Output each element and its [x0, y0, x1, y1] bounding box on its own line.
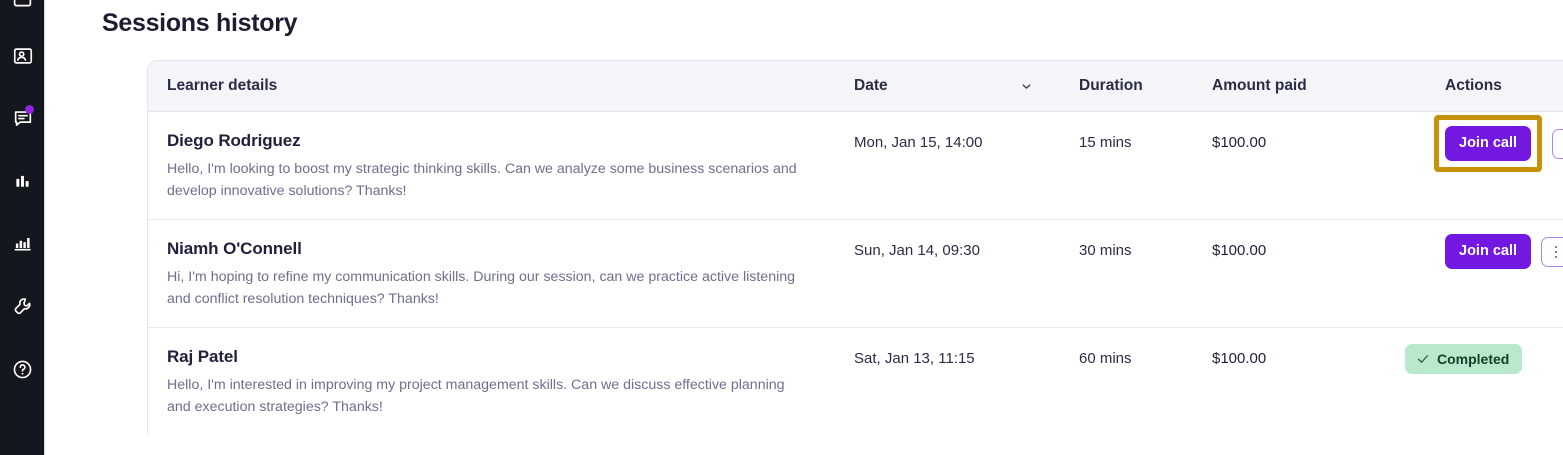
- sidebar-item-contacts[interactable]: [0, 39, 45, 73]
- join-call-button[interactable]: Join call: [1445, 234, 1531, 269]
- column-header-actions: Actions: [1445, 61, 1563, 112]
- cell-actions: Join call: [1445, 112, 1563, 220]
- sidebar-item-tools[interactable]: [0, 289, 45, 323]
- learner-name: Raj Patel: [167, 345, 814, 369]
- cell-learner-details: Raj Patel Hello, I'm interested in impro…: [148, 328, 854, 436]
- cell-date: Sat, Jan 13, 11:15: [854, 328, 1079, 436]
- column-header-learner-details: Learner details: [148, 61, 854, 112]
- join-call-button[interactable]: Join call: [1445, 126, 1531, 161]
- cell-amount-paid: $100.00: [1212, 112, 1445, 220]
- table-header-row: Learner details Date Du: [148, 61, 1563, 112]
- cell-actions: Completed: [1445, 328, 1563, 436]
- learner-message: Hello, I'm looking to boost my strategic…: [167, 158, 807, 202]
- cell-actions: Join call: [1445, 220, 1563, 328]
- column-header-amount-paid: Amount paid: [1212, 61, 1445, 112]
- learner-message: Hi, I'm hoping to refine my communicatio…: [167, 266, 807, 310]
- sessions-history-table-card: Learner details Date Du: [147, 60, 1563, 435]
- sidebar-item-messages[interactable]: [0, 101, 45, 135]
- table-row: Raj Patel Hello, I'm interested in impro…: [148, 328, 1563, 436]
- join-call-focus-ring: Join call: [1434, 115, 1542, 172]
- help-icon: [11, 358, 34, 381]
- sidebar-item-help[interactable]: [0, 352, 45, 386]
- main-content: Sessions history Learner details Date: [45, 0, 1563, 455]
- wrench-icon: [12, 295, 34, 317]
- row-menu-button[interactable]: [1541, 237, 1563, 267]
- status-badge: Completed: [1405, 344, 1522, 374]
- table-body: Diego Rodriguez Hello, I'm looking to bo…: [148, 112, 1563, 436]
- check-icon: [1416, 352, 1430, 366]
- kebab-menu-icon: [1555, 246, 1558, 259]
- messages-unread-badge: [25, 105, 34, 114]
- column-header-date[interactable]: Date: [854, 61, 1079, 112]
- column-header-duration: Duration: [1079, 61, 1212, 112]
- chevron-down-icon[interactable]: [1020, 80, 1033, 93]
- row-menu-button[interactable]: [1552, 129, 1563, 159]
- table-row: Niamh O'Connell Hi, I'm hoping to refine…: [148, 220, 1563, 328]
- cell-learner-details: Diego Rodriguez Hello, I'm looking to bo…: [148, 112, 854, 220]
- sidebar-item-statistics[interactable]: [0, 164, 45, 198]
- column-header-date-label: Date: [854, 77, 888, 95]
- cell-date: Mon, Jan 15, 14:00: [854, 112, 1079, 220]
- cell-amount-paid: $100.00: [1212, 220, 1445, 328]
- app-root: Sessions history Learner details Date: [0, 0, 1563, 455]
- learner-name: Niamh O'Connell: [167, 237, 814, 261]
- cell-duration: 30 mins: [1079, 220, 1212, 328]
- left-sidebar: [0, 0, 45, 455]
- sidebar-item-analytics[interactable]: [0, 226, 45, 260]
- cell-date: Sun, Jan 14, 09:30: [854, 220, 1079, 328]
- bar-chart-icon: [12, 171, 33, 192]
- contact-icon: [12, 45, 34, 67]
- sidebar-item-card[interactable]: [0, 0, 45, 16]
- card-icon: [12, 0, 33, 10]
- cell-duration: 60 mins: [1079, 328, 1212, 436]
- cell-duration: 15 mins: [1079, 112, 1212, 220]
- page-title: Sessions history: [102, 6, 1563, 40]
- status-badge-label: Completed: [1437, 350, 1509, 368]
- learner-name: Diego Rodriguez: [167, 129, 814, 153]
- sessions-table: Learner details Date Du: [148, 61, 1563, 435]
- table-row: Diego Rodriguez Hello, I'm looking to bo…: [148, 112, 1563, 220]
- cell-learner-details: Niamh O'Connell Hi, I'm hoping to refine…: [148, 220, 854, 328]
- analytics-icon: [12, 232, 34, 254]
- table-header: Learner details Date Du: [148, 61, 1563, 112]
- learner-message: Hello, I'm interested in improving my pr…: [167, 374, 807, 418]
